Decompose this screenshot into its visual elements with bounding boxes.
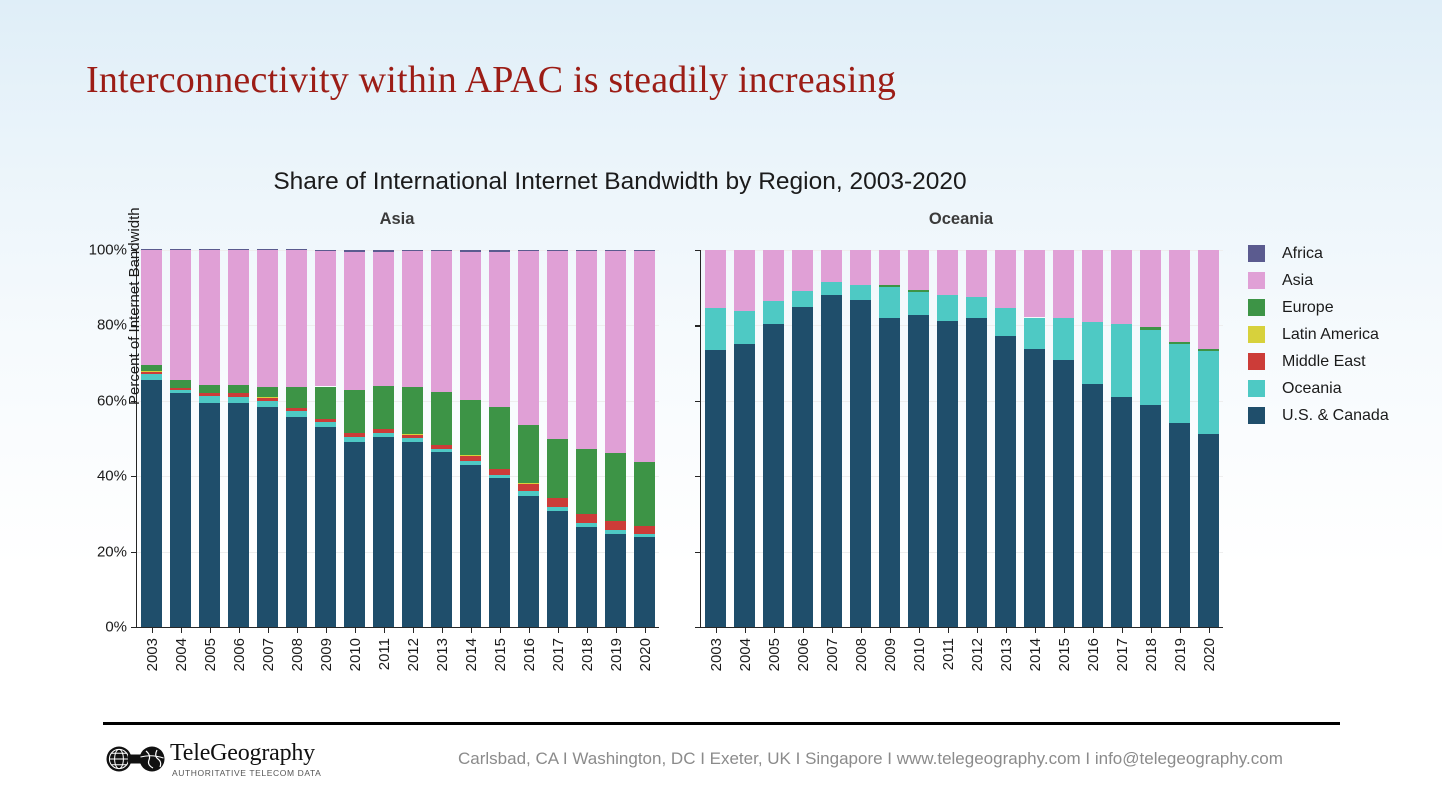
- bar-segment: [792, 307, 812, 627]
- stacked-bar[interactable]: [460, 250, 480, 627]
- bar-segment: [908, 250, 928, 290]
- bar-segment: [518, 425, 538, 483]
- stacked-bar[interactable]: [547, 250, 567, 627]
- legend-item[interactable]: Latin America: [1248, 321, 1428, 348]
- stacked-bar[interactable]: [518, 250, 538, 627]
- bar-segment: [966, 250, 986, 297]
- x-tick-mark: [471, 627, 472, 633]
- legend: AfricaAsiaEuropeLatin AmericaMiddle East…: [1248, 240, 1428, 429]
- y-tick-mark: [131, 552, 137, 553]
- bar-segment: [995, 336, 1015, 627]
- bar-segment: [286, 411, 306, 417]
- bar-segment: [373, 250, 393, 252]
- bar-segment: [257, 250, 277, 387]
- x-tick-label: 2015: [1056, 638, 1073, 671]
- bar-segment: [170, 249, 190, 250]
- bar-segment: [286, 249, 306, 250]
- bar-segment: [199, 385, 219, 393]
- x-tick-label: 2013: [998, 638, 1015, 671]
- x-tick-mark: [948, 627, 949, 633]
- stacked-bar[interactable]: [1082, 250, 1102, 627]
- bar-segment: [1140, 330, 1160, 405]
- footer-divider: [103, 722, 1340, 725]
- stacked-bar[interactable]: [402, 250, 422, 627]
- bar-segment: [460, 461, 480, 465]
- x-tick-mark: [239, 627, 240, 633]
- bar-segment: [705, 308, 725, 349]
- x-tick-label: 2004: [737, 638, 754, 671]
- bar-segment: [228, 249, 248, 250]
- plot-area-asia: 0%20%40%60%80%100%2003200420052006200720…: [136, 250, 659, 628]
- x-tick-mark: [500, 627, 501, 633]
- bar-segment: [518, 496, 538, 627]
- bar-segment: [547, 511, 567, 627]
- bar-segment: [1024, 349, 1044, 627]
- bar-segment: [1198, 250, 1218, 349]
- bar-segment: [705, 250, 725, 308]
- bar-segment: [344, 252, 364, 390]
- x-tick-mark: [587, 627, 588, 633]
- x-tick-mark: [326, 627, 327, 633]
- bar-segment: [605, 251, 625, 453]
- bar-segment: [1024, 250, 1044, 317]
- bar-segment: [605, 453, 625, 521]
- bar-segment: [792, 291, 812, 306]
- bar-segment: [1053, 360, 1073, 627]
- x-tick-label: 2007: [260, 638, 277, 671]
- bar-segment: [170, 390, 190, 393]
- bar-segment: [257, 249, 277, 250]
- bar-segment: [908, 315, 928, 627]
- x-tick-mark: [268, 627, 269, 633]
- bar-segment: [228, 403, 248, 627]
- x-tick-label: 2014: [1027, 638, 1044, 671]
- stacked-bar[interactable]: [344, 250, 364, 627]
- legend-item-label: Europe: [1282, 299, 1334, 317]
- bar-segment: [547, 498, 567, 506]
- stacked-bar[interactable]: [141, 250, 161, 627]
- x-tick-mark: [774, 627, 775, 633]
- bar-segment: [170, 380, 190, 388]
- x-tick-label: 2011: [376, 638, 393, 670]
- x-tick-label: 2019: [1172, 638, 1189, 671]
- bar-segment: [937, 250, 957, 295]
- bar-segment: [344, 442, 364, 627]
- y-tick-label: 0%: [105, 619, 127, 636]
- bar-segment: [141, 365, 161, 371]
- stacked-bar[interactable]: [431, 250, 451, 627]
- bar-segment: [1053, 318, 1073, 360]
- bar-segment: [315, 250, 335, 251]
- bar-segment: [1111, 324, 1131, 397]
- legend-item[interactable]: Oceania: [1248, 375, 1428, 402]
- bar-segment: [257, 398, 277, 401]
- x-tick-label: 2009: [882, 638, 899, 671]
- bar-segment: [634, 250, 654, 251]
- bar-segment: [605, 534, 625, 627]
- legend-swatch-icon: [1248, 326, 1265, 343]
- x-tick-mark: [645, 627, 646, 633]
- bar-segment: [402, 442, 422, 627]
- bar-segment: [344, 390, 364, 433]
- y-tick-label: 20%: [97, 543, 127, 560]
- bar-segment: [257, 407, 277, 627]
- bar-segment: [141, 374, 161, 380]
- bar-segment: [879, 285, 899, 287]
- bar-segment: [373, 386, 393, 429]
- bar-segment: [821, 282, 841, 295]
- x-tick-mark: [832, 627, 833, 633]
- x-tick-label: 2015: [492, 638, 509, 671]
- bar-segment: [199, 403, 219, 627]
- y-tick-mark: [695, 476, 701, 477]
- legend-item[interactable]: Africa: [1248, 240, 1428, 267]
- bar-segment: [1082, 250, 1102, 322]
- bar-segment: [850, 285, 870, 300]
- bar-segment: [489, 252, 509, 407]
- bar-segment: [879, 287, 899, 318]
- bar-segment: [1111, 397, 1131, 627]
- logo-tagline: AUTHORITATIVE TELECOM DATA: [172, 768, 321, 778]
- legend-item[interactable]: Asia: [1248, 267, 1428, 294]
- stacked-bar[interactable]: [995, 250, 1015, 627]
- bar-segment: [257, 387, 277, 397]
- x-tick-mark: [355, 627, 356, 633]
- bar-segment: [460, 465, 480, 627]
- stacked-bar[interactable]: [1053, 250, 1073, 627]
- stacked-bar[interactable]: [1169, 250, 1189, 627]
- bar-segment: [966, 318, 986, 627]
- bar-segment: [576, 514, 596, 523]
- x-tick-label: 2004: [173, 638, 190, 671]
- bar-segment: [431, 251, 451, 392]
- bar-segment: [286, 387, 306, 407]
- x-tick-mark: [1006, 627, 1007, 633]
- y-axis-label: Percent of Internet Bandwidth: [126, 207, 143, 405]
- x-tick-label: 2010: [911, 638, 928, 671]
- stacked-bar[interactable]: [937, 250, 957, 627]
- bar-segment: [315, 387, 335, 419]
- x-tick-label: 2012: [969, 638, 986, 671]
- y-tick-label: 60%: [97, 392, 127, 409]
- x-tick-mark: [152, 627, 153, 633]
- x-tick-mark: [1093, 627, 1094, 633]
- x-tick-label: 2003: [144, 638, 161, 671]
- figure-title: Share of International Internet Bandwidt…: [0, 168, 1240, 196]
- x-tick-label: 2018: [1143, 638, 1160, 671]
- x-tick-mark: [384, 627, 385, 633]
- x-tick-mark: [1209, 627, 1210, 633]
- bar-segment: [634, 537, 654, 627]
- stacked-bar[interactable]: [763, 250, 783, 627]
- bar-segment: [170, 388, 190, 390]
- bar-segment: [315, 422, 335, 427]
- bar-segment: [199, 396, 219, 403]
- legend-item-label: Latin America: [1282, 326, 1379, 344]
- stacked-bar[interactable]: [850, 250, 870, 627]
- x-tick-mark: [861, 627, 862, 633]
- x-tick-label: 2012: [405, 638, 422, 671]
- bar-segment: [1140, 327, 1160, 330]
- x-tick-label: 2003: [708, 638, 725, 671]
- x-tick-mark: [413, 627, 414, 633]
- x-tick-mark: [529, 627, 530, 633]
- bar-segment: [460, 456, 480, 461]
- stacked-bar[interactable]: [199, 250, 219, 627]
- bar-segment: [431, 392, 451, 445]
- bar-segment: [634, 251, 654, 462]
- bar-segment: [286, 250, 306, 387]
- bar-segment: [286, 408, 306, 411]
- x-tick-mark: [1035, 627, 1036, 633]
- bar-segment: [228, 393, 248, 396]
- x-tick-label: 2018: [579, 638, 596, 671]
- x-tick-mark: [1122, 627, 1123, 633]
- x-tick-label: 2005: [202, 638, 219, 671]
- bar-segment: [605, 250, 625, 251]
- x-tick-label: 2011: [940, 638, 957, 670]
- x-tick-label: 2017: [550, 638, 567, 671]
- stacked-bar[interactable]: [1198, 250, 1218, 627]
- stacked-bar[interactable]: [605, 250, 625, 627]
- bar-segment: [634, 526, 654, 534]
- globe-telephone-icon: [106, 742, 166, 776]
- bar-segment: [199, 393, 219, 396]
- x-tick-mark: [745, 627, 746, 633]
- stacked-bar[interactable]: [705, 250, 725, 627]
- stacked-bar[interactable]: [879, 250, 899, 627]
- bar-segment: [315, 427, 335, 627]
- bar-segment: [1198, 351, 1218, 433]
- x-tick-label: 2006: [231, 638, 248, 671]
- x-tick-mark: [210, 627, 211, 633]
- bar-segment: [431, 250, 451, 251]
- x-tick-label: 2010: [347, 638, 364, 671]
- bar-segment: [344, 250, 364, 252]
- bar-segment: [1169, 423, 1189, 627]
- bar-segment: [489, 407, 509, 469]
- stacked-bar[interactable]: [734, 250, 754, 627]
- bar-segment: [170, 393, 190, 627]
- bar-segment: [850, 300, 870, 627]
- stacked-bar[interactable]: [576, 250, 596, 627]
- x-tick-mark: [1180, 627, 1181, 633]
- bar-segment: [141, 372, 161, 374]
- stacked-bar[interactable]: [257, 250, 277, 627]
- stacked-bar[interactable]: [489, 250, 509, 627]
- bar-segment: [170, 250, 190, 380]
- x-tick-mark: [803, 627, 804, 633]
- bar-segment: [373, 433, 393, 437]
- bar-segment: [547, 507, 567, 511]
- bar-segment: [850, 250, 870, 285]
- bar-segment: [141, 249, 161, 250]
- stacked-bar[interactable]: [634, 250, 654, 627]
- y-tick-label: 80%: [97, 317, 127, 334]
- x-tick-mark: [716, 627, 717, 633]
- legend-item-label: Middle East: [1282, 353, 1366, 371]
- legend-swatch-icon: [1248, 299, 1265, 316]
- legend-swatch-icon: [1248, 380, 1265, 397]
- bar-segment: [402, 250, 422, 251]
- x-tick-label: 2008: [289, 638, 306, 671]
- bar-segment: [576, 527, 596, 627]
- bar-segment: [1169, 344, 1189, 423]
- x-tick-label: 2020: [637, 638, 654, 671]
- bar-segment: [199, 250, 219, 385]
- bar-segment: [1198, 349, 1218, 351]
- bar-segment: [576, 251, 596, 449]
- footer-offices: Carlsbad, CA I Washington, DC I Exeter, …: [458, 749, 1283, 769]
- legend-swatch-icon: [1248, 245, 1265, 262]
- stacked-bar[interactable]: [966, 250, 986, 627]
- bar-segment: [489, 250, 509, 252]
- y-tick-mark: [695, 250, 701, 251]
- x-tick-mark: [442, 627, 443, 633]
- x-tick-mark: [890, 627, 891, 633]
- bar-segment: [228, 397, 248, 404]
- bar-segment: [995, 308, 1015, 336]
- x-tick-mark: [977, 627, 978, 633]
- bar-segment: [879, 318, 899, 627]
- stacked-bar[interactable]: [373, 250, 393, 627]
- legend-swatch-icon: [1248, 353, 1265, 370]
- bar-segment: [1053, 250, 1073, 318]
- bar-segment: [1111, 250, 1131, 324]
- bar-segment: [228, 250, 248, 384]
- bar-segment: [763, 324, 783, 627]
- legend-item[interactable]: Europe: [1248, 294, 1428, 321]
- telegeography-logo: TeleGeography AUTHORITATIVE TELECOM DATA: [106, 740, 346, 784]
- bar-segment: [908, 290, 928, 292]
- stacked-bar[interactable]: [1024, 250, 1044, 627]
- bar-segment: [257, 401, 277, 407]
- x-tick-mark: [1151, 627, 1152, 633]
- bar-segment: [1169, 250, 1189, 342]
- y-tick-mark: [695, 325, 701, 326]
- bar-segment: [141, 380, 161, 627]
- bar-segment: [634, 462, 654, 525]
- bar-segment: [547, 439, 567, 498]
- x-tick-mark: [558, 627, 559, 633]
- stacked-bar[interactable]: [908, 250, 928, 627]
- y-tick-mark: [131, 476, 137, 477]
- x-tick-mark: [1064, 627, 1065, 633]
- bar-segment: [547, 250, 567, 251]
- bar-segment: [995, 250, 1015, 308]
- bar-segment: [576, 250, 596, 251]
- bar-segment: [879, 250, 899, 285]
- bar-segment: [547, 251, 567, 439]
- bar-segment: [141, 250, 161, 365]
- y-tick-mark: [695, 401, 701, 402]
- bar-segment: [1082, 384, 1102, 627]
- bar-segment: [821, 250, 841, 282]
- bar-segment: [518, 251, 538, 425]
- bar-segment: [734, 344, 754, 627]
- bar-segment: [344, 433, 364, 437]
- bar-segment: [634, 534, 654, 537]
- stacked-bar[interactable]: [1140, 250, 1160, 627]
- y-tick-mark: [131, 627, 137, 628]
- bar-segment: [763, 301, 783, 324]
- x-tick-label: 2008: [853, 638, 870, 671]
- bar-segment: [763, 250, 783, 301]
- x-tick-label: 2020: [1201, 638, 1218, 671]
- x-tick-label: 2007: [824, 638, 841, 671]
- bar-segment: [199, 249, 219, 250]
- bar-segment: [489, 478, 509, 627]
- stacked-bar[interactable]: [286, 250, 306, 627]
- bar-segment: [402, 251, 422, 387]
- bar-segment: [315, 419, 335, 422]
- bar-segment: [286, 417, 306, 627]
- logo-wordmark: TeleGeography: [170, 740, 315, 767]
- x-tick-label: 2014: [463, 638, 480, 671]
- bar-segment: [734, 311, 754, 344]
- bar-segment: [605, 521, 625, 530]
- legend-item[interactable]: Middle East: [1248, 348, 1428, 375]
- bar-segment: [460, 252, 480, 401]
- stacked-bar[interactable]: [792, 250, 812, 627]
- panel-asia-title: Asia: [136, 210, 658, 229]
- bar-segment: [489, 475, 509, 478]
- legend-item-label: Asia: [1282, 272, 1313, 290]
- bar-segment: [1082, 322, 1102, 383]
- panel-oceania-title: Oceania: [700, 210, 1222, 229]
- stacked-bar[interactable]: [170, 250, 190, 627]
- x-tick-label: 2009: [318, 638, 335, 671]
- stacked-bar[interactable]: [315, 250, 335, 627]
- bar-segment: [1169, 342, 1189, 344]
- bar-segment: [908, 292, 928, 315]
- y-tick-label: 40%: [97, 468, 127, 485]
- y-tick-label: 100%: [89, 242, 127, 259]
- bar-segment: [576, 449, 596, 514]
- stacked-bar[interactable]: [1111, 250, 1131, 627]
- bar-segment: [431, 449, 451, 453]
- bar-segment: [518, 250, 538, 251]
- bar-segment: [431, 452, 451, 627]
- x-tick-mark: [919, 627, 920, 633]
- legend-item-label: U.S. & Canada: [1282, 407, 1389, 425]
- bar-segment: [344, 437, 364, 442]
- bar-segment: [315, 251, 335, 386]
- x-tick-mark: [297, 627, 298, 633]
- bar-segment: [792, 250, 812, 291]
- y-tick-mark: [695, 552, 701, 553]
- bar-segment: [1140, 250, 1160, 327]
- bar-segment: [518, 491, 538, 496]
- y-tick-mark: [695, 627, 701, 628]
- bar-segment: [1024, 318, 1044, 349]
- bar-segment: [1198, 434, 1218, 627]
- legend-item[interactable]: U.S. & Canada: [1248, 402, 1428, 429]
- bar-segment: [402, 387, 422, 435]
- x-tick-mark: [181, 627, 182, 633]
- stacked-bar[interactable]: [228, 250, 248, 627]
- bar-segment: [966, 297, 986, 318]
- legend-swatch-icon: [1248, 272, 1265, 289]
- legend-item-label: Oceania: [1282, 380, 1342, 398]
- stacked-bar[interactable]: [821, 250, 841, 627]
- bar-segment: [373, 429, 393, 432]
- x-tick-label: 2006: [795, 638, 812, 671]
- bar-segment: [705, 350, 725, 627]
- bar-segment: [518, 484, 538, 491]
- bar-segment: [937, 321, 957, 628]
- figure-container: Share of International Internet Bandwidt…: [0, 150, 1442, 695]
